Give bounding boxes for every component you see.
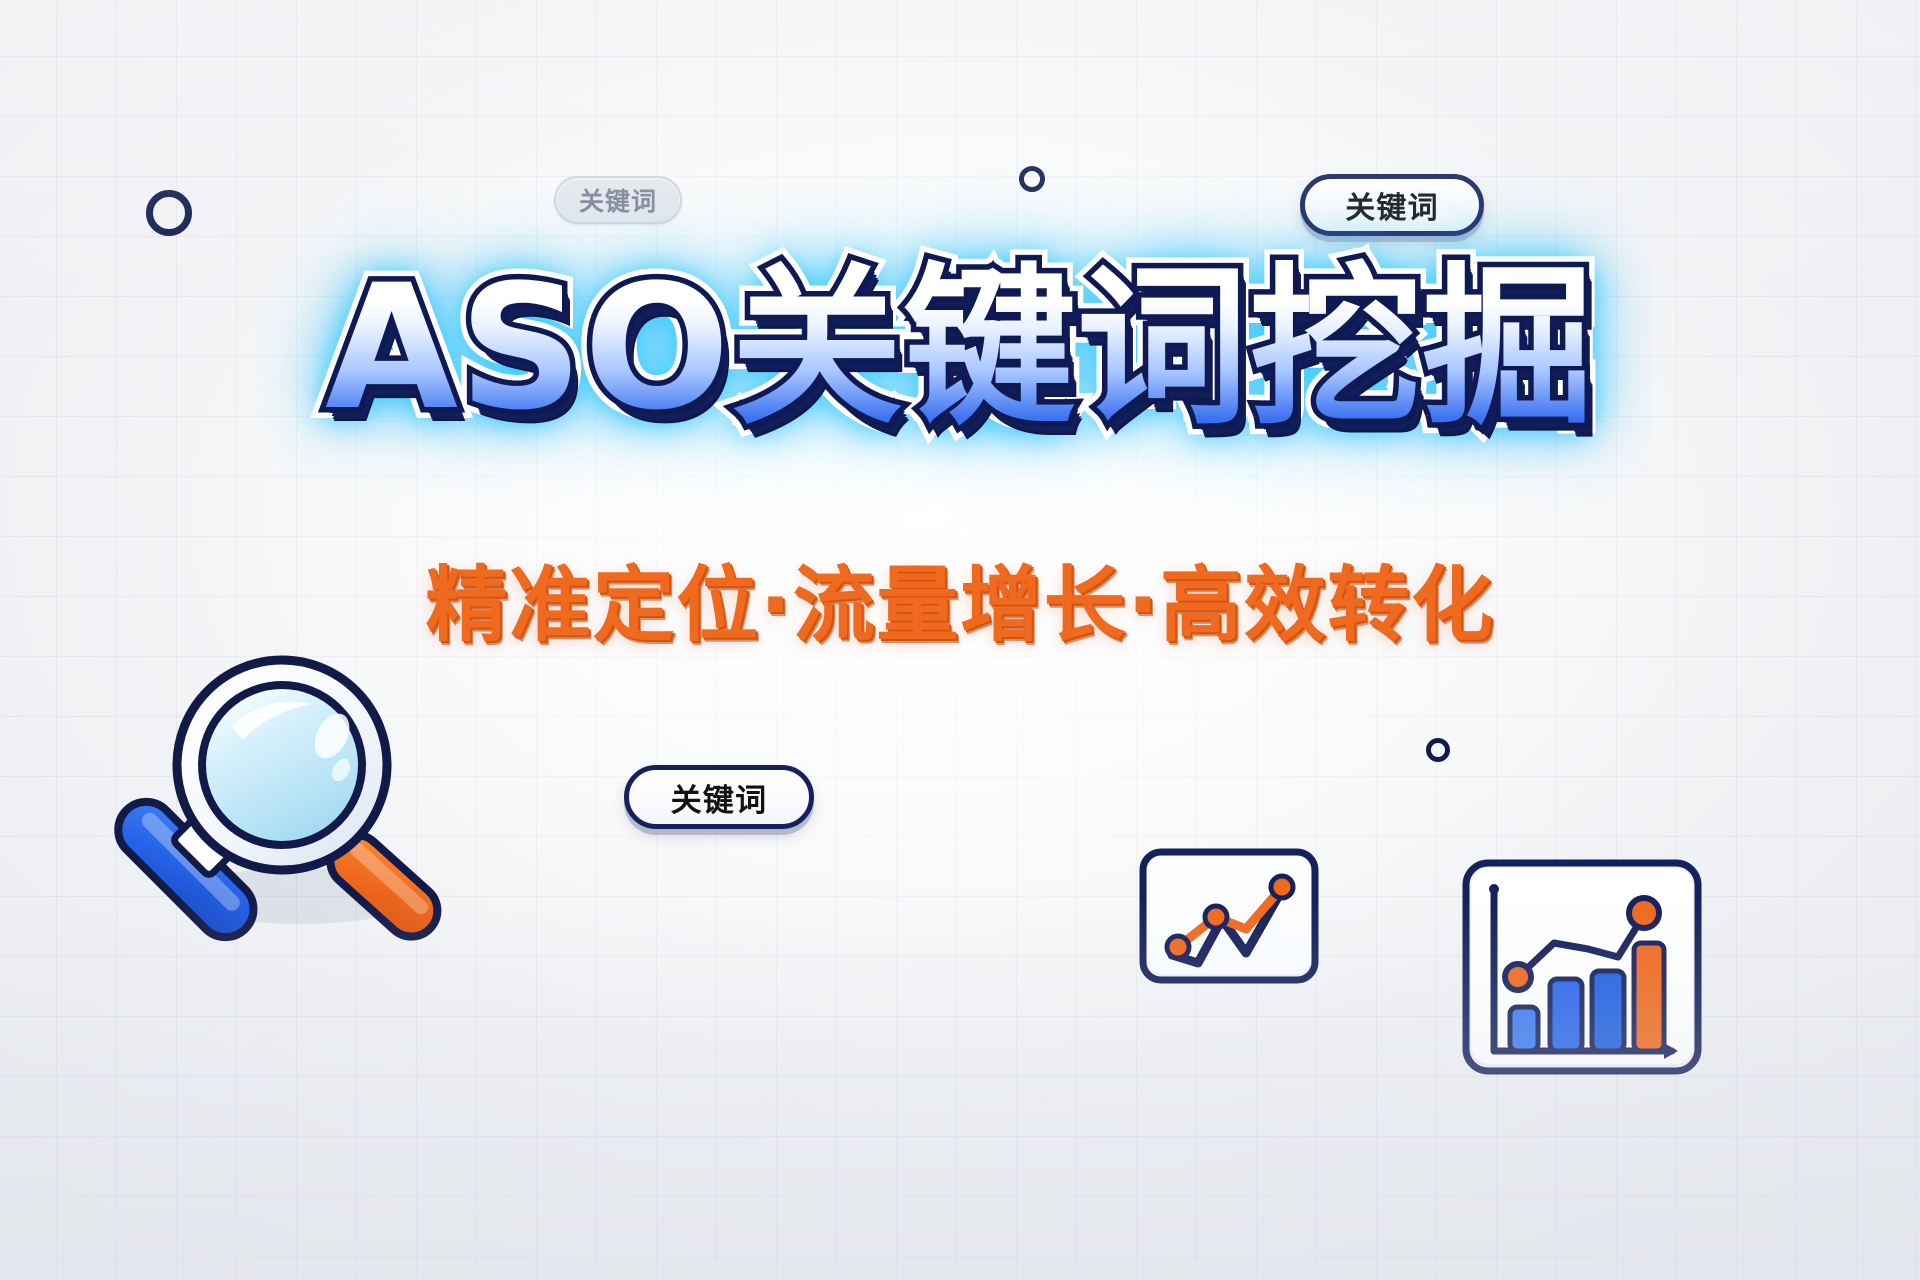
line-chart-card-icon [1136, 845, 1326, 993]
keyword-badge-top-center-label: 关键词 [579, 182, 657, 218]
bar-4 [1634, 943, 1664, 1051]
bar-chart-card-icon [1458, 855, 1708, 1081]
decorative-ring-top-center-icon [1019, 166, 1045, 192]
bar-2 [1550, 979, 1582, 1051]
bar-1 [1510, 1007, 1538, 1051]
keyword-badge-bottom-label: 关键词 [671, 775, 768, 820]
keyword-badge-bottom[interactable]: 关键词 [624, 765, 814, 829]
bar-3 [1592, 971, 1624, 1051]
keyword-badge-top-center[interactable]: 关键词 [554, 176, 682, 224]
magnifying-glass-icon [60, 648, 480, 978]
poster-canvas: 关键词 关键词 关键词 ASO关键词挖掘 ASO关键词挖掘 ASO关键词挖掘 A… [0, 0, 1920, 1280]
keyword-badge-top-right-label: 关键词 [1345, 183, 1439, 227]
page-subtitle: 精准定位·流量增长·高效转化 [0, 538, 1920, 657]
keyword-badge-top-right[interactable]: 关键词 [1300, 174, 1484, 236]
decorative-ring-right-icon [1426, 738, 1450, 762]
decorative-ring-top-left-icon [146, 190, 192, 236]
